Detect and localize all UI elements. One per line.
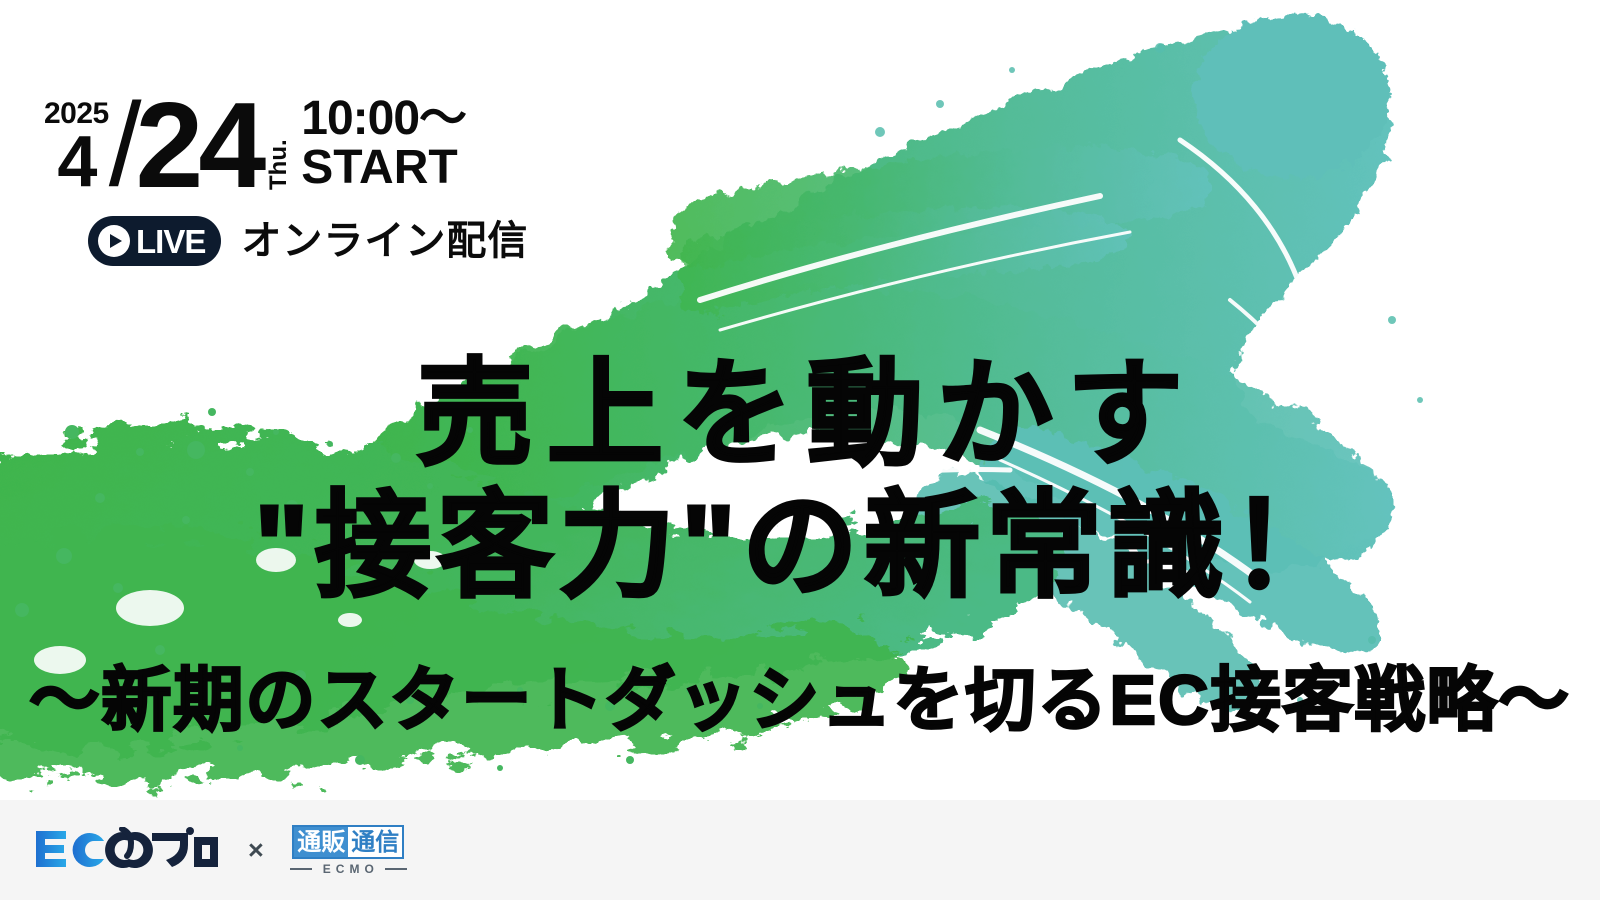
event-date-block: 2025 4 / 24 Thu. 10:00〜 START [44, 72, 466, 192]
tsuhan-box: 通販 通信 [292, 825, 404, 859]
event-time: 10:00〜 [301, 95, 466, 144]
headline-block: 売上を動かす "接客力"の新常識！ [0, 350, 1600, 612]
logo-ec-no-puro[interactable] [34, 827, 220, 873]
headline-subtitle: 〜新期のスタートダッシュを切るEC接客戦略〜 [0, 662, 1600, 739]
event-weekday: Thu. [267, 98, 291, 190]
tsuhan-right-text: 通信 [348, 827, 402, 857]
logo-tsuhan-tsushin[interactable]: 通販 通信 ECMO [290, 825, 407, 875]
event-day: 24 [136, 97, 262, 195]
ecmo-label: ECMO [318, 863, 379, 875]
live-delivery-row: LIVE オンライン配信 [88, 216, 528, 266]
play-triangle [110, 234, 122, 248]
delivery-label: オンライン配信 [241, 221, 528, 261]
live-badge-label: LIVE [136, 225, 205, 258]
tsuhan-left-text: 通販 [294, 827, 348, 857]
ecmo-dash-right [385, 868, 407, 870]
ecmo-row: ECMO [290, 863, 407, 875]
headline-line-2: "接客力"の新常識！ [0, 480, 1600, 612]
event-time-group: 10:00〜 START [301, 72, 466, 192]
logo-separator: × [248, 837, 264, 864]
footer-logos: × 通販 通信 ECMO [34, 825, 407, 875]
year-month-group: 2025 4 [44, 72, 111, 192]
event-start-label: START [301, 144, 466, 192]
footer-bar: × 通販 通信 ECMO [0, 800, 1600, 900]
weekday-wrap: Thu. [267, 72, 291, 192]
ecmo-dash-left [290, 868, 312, 870]
live-badge: LIVE [88, 216, 221, 266]
event-month: 4 [57, 133, 95, 192]
date-row: 2025 4 / 24 Thu. 10:00〜 START [44, 72, 466, 192]
headline-line-1: 売上を動かす [0, 350, 1600, 480]
webinar-banner: 2025 4 / 24 Thu. 10:00〜 START LIVE オンライン… [0, 0, 1600, 900]
play-icon [98, 225, 130, 257]
